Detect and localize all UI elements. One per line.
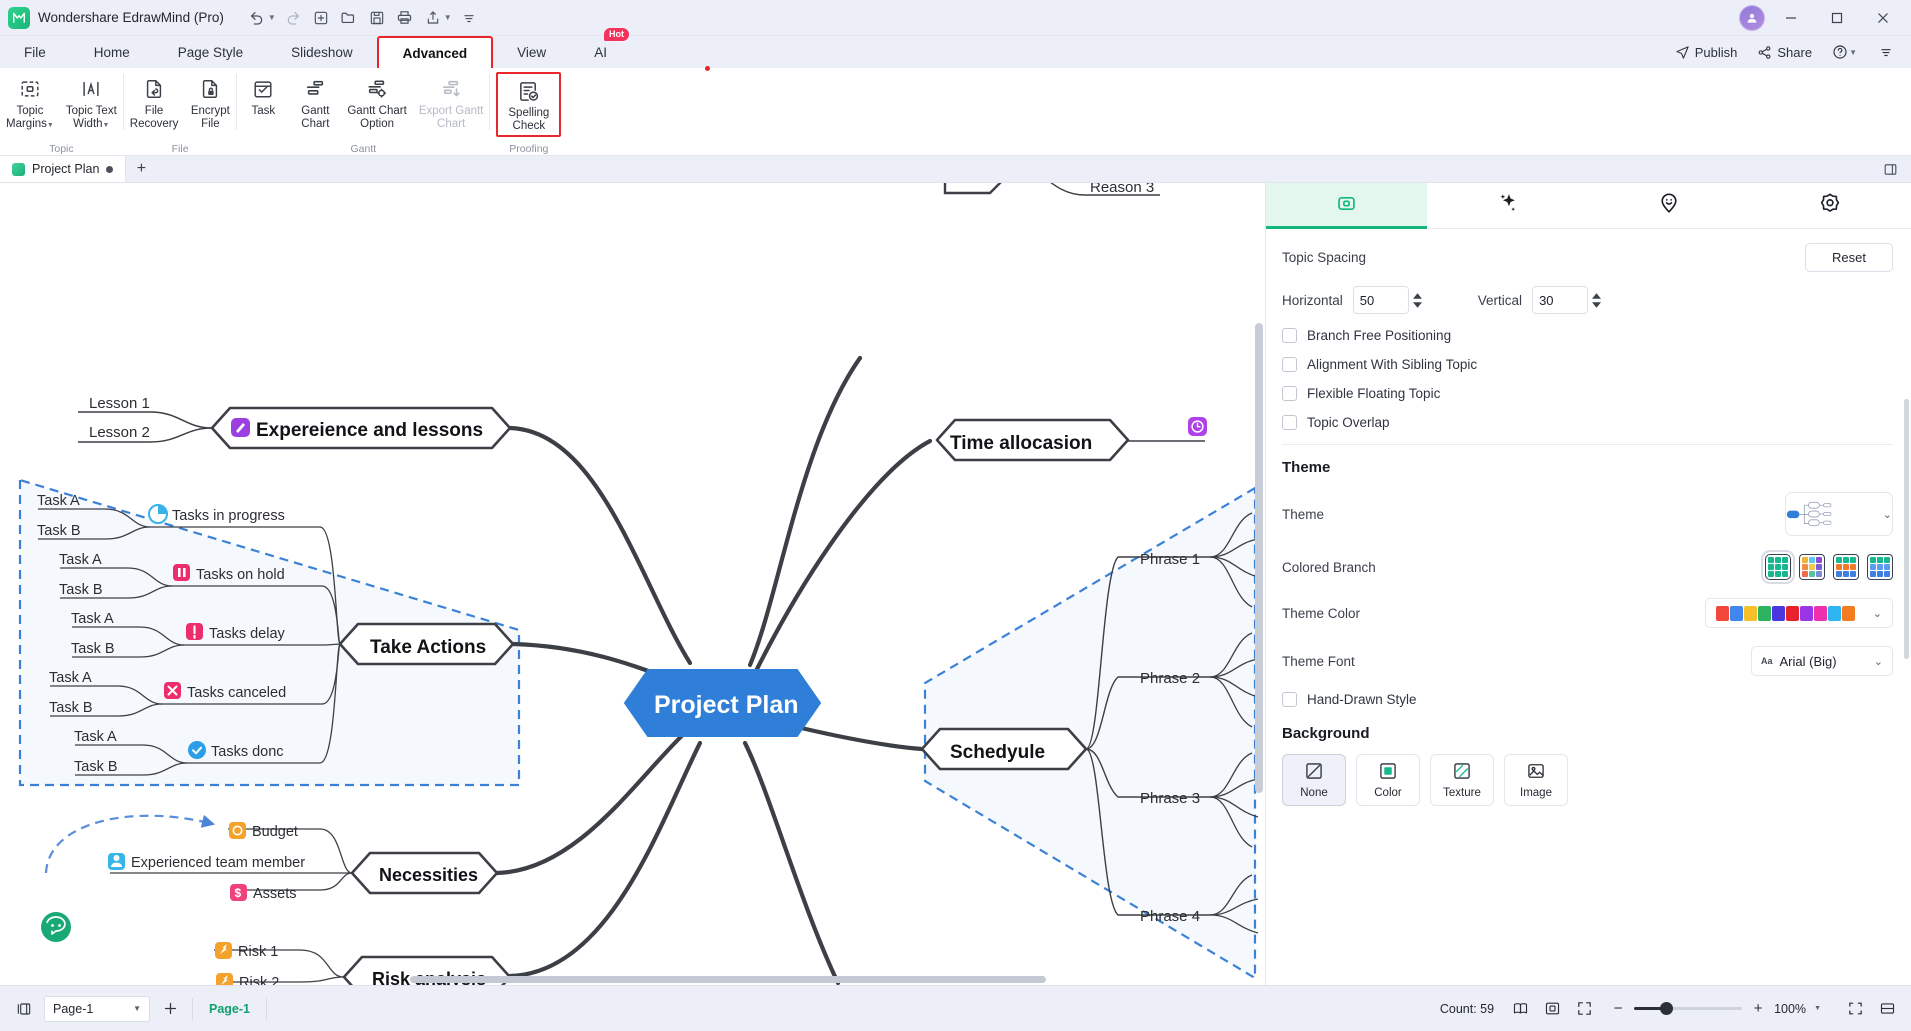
ribbon-group-proofing: Spelling Check Proofing (496, 68, 561, 156)
fit-page-icon[interactable] (1538, 996, 1566, 1022)
checkbox-icon[interactable] (1282, 386, 1297, 401)
topic-margins-icon (19, 76, 41, 102)
menu-bar-right: Publish Share ▼ (1667, 36, 1911, 68)
ribbon-group-label-proofing: Proofing (496, 142, 561, 156)
export-gantt-chart-label: Export Gantt Chart (419, 105, 484, 131)
add-page-button[interactable] (156, 996, 184, 1022)
label-line-2: Check (513, 120, 546, 132)
tab-bar-right (1877, 156, 1911, 182)
background-option-image[interactable]: Image (1504, 754, 1568, 806)
horizontal-spin-arrows[interactable] (1413, 293, 1422, 308)
scrollbar-thumb[interactable] (1255, 323, 1263, 793)
menu-item-ai[interactable]: AI Hot (570, 36, 631, 68)
label-line-2: File (201, 118, 220, 130)
horizontal-label: Horizontal (1282, 293, 1343, 308)
label-line-2: Margins (6, 118, 47, 130)
checkbox-hand-drawn-style[interactable]: Hand-Drawn Style (1282, 692, 1893, 707)
menu-item-advanced[interactable]: Advanced (377, 36, 494, 68)
label-line-2: Chart (437, 118, 465, 130)
modified-dot-icon (106, 166, 113, 173)
gear-tab[interactable] (1750, 183, 1911, 228)
page-select-value: Page-1 (53, 1002, 93, 1016)
checkbox-icon[interactable] (1282, 415, 1297, 430)
label-line-1: Topic (16, 105, 43, 117)
status-separator (192, 998, 193, 1020)
color-icon (1378, 761, 1398, 781)
image-icon (1526, 761, 1546, 781)
svg-text:Phrase 1: Phrase 1 (1140, 551, 1200, 568)
current-page-chip[interactable]: Page-1 (201, 1002, 258, 1016)
add-tab-button[interactable]: + (126, 156, 156, 182)
theme-color-row: Theme Color ⌄ (1282, 598, 1893, 628)
gantt-chart-option-label: Gantt Chart Option (347, 105, 406, 131)
ribbon-group-label-topic: Topic (0, 142, 123, 156)
title-bar: Wondershare EdrawMind (Pro) ▼ ▼ (0, 0, 1911, 36)
theme-font-label: Theme Font (1282, 654, 1355, 669)
theme-font-value: Arial (Big) (1780, 654, 1837, 669)
ribbon-red-dot (705, 66, 710, 71)
ribbon-separator (489, 74, 490, 130)
menu-item-view[interactable]: View (493, 36, 570, 68)
ribbon: Topic Margins▼ Topic Text Width▼ Topic (0, 68, 1911, 156)
more-options-icon[interactable] (456, 5, 482, 31)
chevron-down-icon (1592, 302, 1601, 308)
mindmap-svg: Lesson 1 Lesson 2 Expereience and lesson… (0, 183, 1265, 985)
background-section-title: Background (1282, 725, 1893, 742)
topic-text-width-button[interactable]: Topic Text Width▼ (60, 72, 123, 132)
colored-branch-option-4[interactable] (1867, 554, 1893, 580)
svg-text:Lesson 2: Lesson 2 (89, 424, 150, 441)
canvas-vertical-scrollbar[interactable] (1255, 323, 1263, 793)
presentation-mode-icon[interactable] (1841, 996, 1869, 1022)
export-caret-icon[interactable]: ▼ (444, 13, 452, 22)
help-button[interactable]: ▼ (1824, 40, 1867, 64)
section-divider (1282, 444, 1893, 445)
open-icon[interactable] (336, 5, 362, 31)
checkbox-icon[interactable] (1282, 692, 1297, 707)
label-line-1: Export Gantt (419, 105, 484, 117)
svg-text:Lesson 1: Lesson 1 (89, 395, 150, 412)
none-icon (1304, 761, 1324, 781)
theme-preview-icon (1786, 499, 1836, 529)
theme-label: Theme (1282, 507, 1324, 522)
publish-label: Publish (1695, 45, 1738, 60)
spelling-check-button[interactable]: Spelling Check (496, 72, 561, 137)
svg-text:Tasks in progress: Tasks in progress (172, 508, 285, 524)
save-icon[interactable] (364, 5, 390, 31)
topic-spacing-label: Topic Spacing (1282, 250, 1366, 265)
background-option-label: Image (1520, 787, 1552, 799)
colored-branch-label: Colored Branch (1282, 560, 1376, 575)
canvas-horizontal-scrollbar[interactable] (0, 973, 1265, 985)
theme-color-swatches (1716, 606, 1855, 621)
ribbon-group-label-gantt: Gantt (237, 142, 489, 156)
print-icon[interactable] (392, 5, 418, 31)
spelling-check-label: Spelling Check (508, 107, 549, 133)
background-option-color[interactable]: Color (1356, 754, 1420, 806)
svg-text:Project Plan: Project Plan (654, 691, 799, 719)
task-button[interactable]: Task (237, 72, 289, 118)
topic-margins-button[interactable]: Topic Margins▼ (0, 72, 60, 132)
quick-access-toolbar: ▼ ▼ (244, 5, 482, 31)
svg-text:Task B: Task B (59, 582, 103, 598)
checkbox-branch-free-positioning[interactable]: Branch Free Positioning (1282, 328, 1893, 343)
svg-text:Time allocasion: Time allocasion (950, 433, 1092, 454)
colored-branch-option-2[interactable] (1799, 554, 1825, 580)
chevron-down-icon[interactable]: ⌄ (1873, 607, 1882, 620)
sparkle-icon (1497, 192, 1519, 219)
svg-text:Reason 3: Reason 3 (1090, 183, 1154, 196)
reset-button[interactable]: Reset (1805, 243, 1893, 272)
svg-text:Phrase 4: Phrase 4 (1140, 908, 1200, 925)
ribbon-group-topic: Topic Margins▼ Topic Text Width▼ Topic (0, 68, 123, 156)
menu-more-icon[interactable] (1871, 41, 1901, 63)
redo-icon[interactable] (280, 5, 306, 31)
svg-text:Schedyule: Schedyule (950, 742, 1045, 763)
mindmap-canvas[interactable]: Lesson 1 Lesson 2 Expereience and lesson… (0, 183, 1265, 985)
svg-text:Tasks donc: Tasks donc (211, 744, 284, 760)
document-tab-label: Project Plan (32, 162, 99, 176)
svg-text:Task A: Task A (74, 729, 117, 745)
texture-icon (1452, 761, 1472, 781)
ai-tab[interactable] (1427, 183, 1588, 228)
split-view-icon[interactable] (1873, 996, 1901, 1022)
background-option-texture[interactable]: Texture (1430, 754, 1494, 806)
background-option-none[interactable]: None (1282, 754, 1346, 806)
menu-item-home[interactable]: Home (70, 36, 154, 68)
menu-item-file[interactable]: File (0, 36, 70, 68)
publish-button[interactable]: Publish (1667, 41, 1746, 64)
status-separator (266, 998, 267, 1020)
help-caret-icon[interactable]: ▼ (1849, 48, 1857, 57)
menu-label: Advanced (403, 46, 468, 61)
menu-label: View (517, 45, 546, 60)
right-panel-scrollbar[interactable] (1904, 399, 1909, 659)
theme-color-label: Theme Color (1282, 606, 1360, 621)
chevron-up-icon (1413, 293, 1422, 299)
theme-row: Theme ⌄ (1282, 492, 1893, 536)
layout-tab[interactable] (1266, 183, 1427, 228)
ribbon-group-label-file: File (124, 142, 237, 156)
encrypt-file-label: Encrypt File (191, 105, 230, 131)
main-area: Lesson 1 Lesson 2 Expereience and lesson… (0, 183, 1911, 985)
menu-label: Slideshow (291, 45, 353, 60)
close-button[interactable] (1863, 1, 1903, 35)
checkbox-alignment-with-sibling-topic[interactable]: Alignment With Sibling Topic (1282, 357, 1893, 372)
menu-item-page-style[interactable]: Page Style (154, 36, 267, 68)
right-panel: Topic Spacing Reset Horizontal Vertical (1265, 183, 1911, 985)
export-gantt-chart-button: Export Gantt Chart (413, 72, 490, 131)
undo-caret-icon[interactable]: ▼ (268, 13, 276, 22)
svg-text:Phrase 2: Phrase 2 (1140, 670, 1200, 687)
zoom-knob[interactable] (1660, 1002, 1673, 1015)
menu-label: AI (594, 45, 607, 60)
label-line-2: Recovery (130, 118, 179, 130)
emoji-tab[interactable] (1589, 183, 1750, 228)
encrypt-file-icon (199, 76, 221, 102)
zoom-slider[interactable] (1634, 1002, 1742, 1016)
svg-text:Tasks delay: Tasks delay (209, 626, 286, 642)
gantt-chart-icon (304, 76, 326, 102)
layout-icon (1336, 193, 1357, 219)
svg-text:Necessities: Necessities (379, 865, 478, 885)
chevron-down-icon[interactable]: ▼ (1814, 1005, 1821, 1012)
ribbon-group-gantt: Task Gantt Chart Gantt Chart Option (237, 68, 489, 156)
maximize-button[interactable] (1817, 1, 1857, 35)
zoom-control: − + 100% ▼ (1610, 1000, 1821, 1017)
vertical-spin-arrows[interactable] (1592, 293, 1601, 308)
scrollbar-thumb[interactable] (410, 976, 1046, 983)
topic-margins-label: Topic Margins▼ (6, 105, 54, 132)
chevron-down-icon[interactable]: ⌄ (1883, 508, 1892, 521)
document-tab-bar: Project Plan + (0, 156, 1911, 183)
svg-text:Task B: Task B (74, 759, 118, 775)
minimize-button[interactable] (1771, 1, 1811, 35)
svg-text:Task A: Task A (37, 493, 80, 509)
checkbox-icon[interactable] (1282, 328, 1297, 343)
status-bar-right: Count: 59 − + 100% ▼ (1440, 996, 1901, 1022)
checkbox-topic-overlap[interactable]: Topic Overlap (1282, 415, 1893, 430)
horizontal-input[interactable] (1353, 286, 1409, 314)
topic-text-width-label: Topic Text Width▼ (66, 105, 117, 132)
colored-branch-option-3[interactable] (1833, 554, 1859, 580)
label-line-1: File (145, 105, 164, 117)
colored-branch-row: Colored Branch (1282, 554, 1893, 580)
outline-view-icon[interactable] (1506, 996, 1534, 1022)
app-title: Wondershare EdrawMind (Pro) (38, 10, 224, 25)
menu-label: File (24, 45, 46, 60)
new-icon[interactable] (308, 5, 334, 31)
spacing-inputs-row: Horizontal Vertical (1282, 286, 1893, 314)
gantt-chart-label: Gantt Chart (301, 105, 329, 131)
topic-text-width-icon (80, 76, 102, 102)
task-label: Task (252, 105, 276, 118)
label-line-1: Task (252, 105, 276, 117)
export-gantt-chart-icon (440, 76, 462, 102)
share-button[interactable]: Share (1749, 41, 1820, 64)
checkbox-label: Flexible Floating Topic (1307, 386, 1440, 401)
gantt-chart-button[interactable]: Gantt Chart (289, 72, 341, 131)
task-icon (252, 76, 274, 102)
svg-text:Task B: Task B (37, 523, 81, 539)
avatar[interactable] (1739, 5, 1765, 31)
svg-text:Task B: Task B (49, 700, 93, 716)
export-share-icon[interactable] (420, 5, 446, 31)
chevron-down-icon[interactable]: ⌄ (1874, 655, 1883, 668)
label-line-1: Topic Text (66, 105, 117, 117)
right-panel-tabs (1266, 183, 1911, 229)
menu-label: Home (94, 45, 130, 60)
page-select[interactable]: Page-1 ▼ (44, 996, 150, 1022)
gear-icon (1819, 192, 1841, 219)
checkbox-icon[interactable] (1282, 357, 1297, 372)
zoom-in-button[interactable]: + (1750, 1000, 1766, 1017)
menu-item-slideshow[interactable]: Slideshow (267, 36, 377, 68)
edrawmind-logo-icon (8, 7, 30, 29)
hot-badge: Hot (604, 28, 629, 41)
label-line-2: Option (360, 118, 394, 130)
svg-text:Task B: Task B (71, 641, 115, 657)
document-icon (12, 163, 25, 176)
svg-text:Tasks canceled: Tasks canceled (187, 685, 286, 701)
gantt-chart-option-button[interactable]: Gantt Chart Option (341, 72, 412, 131)
undo-icon[interactable] (244, 5, 270, 31)
svg-text:Take Actions: Take Actions (370, 637, 486, 658)
zoom-label[interactable]: 100% (1774, 1002, 1806, 1016)
svg-text:$: $ (235, 886, 242, 900)
label-line-1: Spelling (508, 107, 549, 119)
count-label: Count: 59 (1440, 1002, 1494, 1016)
encrypt-file-button[interactable]: Encrypt File (184, 72, 236, 131)
svg-text:Task A: Task A (59, 552, 102, 568)
status-bar: Page-1 ▼ Page-1 Count: 59 − + 100% ▼ (0, 985, 1911, 1031)
chevron-down-icon[interactable]: ▼ (47, 122, 54, 129)
theme-section-title: Theme (1282, 459, 1893, 476)
topic-spacing-row: Topic Spacing Reset (1282, 243, 1893, 272)
svg-text:Assets: Assets (253, 886, 297, 902)
theme-font-select[interactable]: Aa Arial (Big) ⌄ (1751, 646, 1893, 676)
zoom-out-button[interactable]: − (1610, 1000, 1626, 1017)
file-recovery-button[interactable]: File Recovery (124, 72, 185, 131)
background-option-label: Color (1374, 787, 1401, 799)
vertical-label: Vertical (1478, 293, 1522, 308)
checkbox-label: Topic Overlap (1307, 415, 1390, 430)
svg-text:Risk 1: Risk 1 (238, 944, 278, 960)
checkbox-label: Hand-Drawn Style (1307, 692, 1417, 707)
page-view-icon[interactable] (10, 996, 38, 1022)
file-recovery-icon (143, 76, 165, 102)
vertical-stepper[interactable] (1532, 286, 1601, 314)
svg-text:Task A: Task A (71, 611, 114, 627)
file-recovery-label: File Recovery (130, 105, 179, 131)
menu-label: Page Style (178, 45, 243, 60)
label-line-1: Gantt Chart (347, 105, 406, 117)
label-line-1: Gantt (301, 105, 329, 117)
share-label: Share (1777, 45, 1812, 60)
panel-toggle-icon[interactable] (1877, 158, 1903, 180)
theme-picker[interactable]: ⌄ (1785, 492, 1893, 536)
theme-font-row: Theme Font Aa Arial (Big) ⌄ (1282, 646, 1893, 676)
document-tab-project-plan[interactable]: Project Plan (0, 156, 126, 182)
vertical-input[interactable] (1532, 286, 1588, 314)
background-option-label: None (1300, 787, 1328, 799)
spelling-check-icon (517, 78, 540, 104)
svg-text:Experienced team member: Experienced team member (131, 855, 305, 871)
checkbox-flexible-floating-topic[interactable]: Flexible Floating Topic (1282, 386, 1893, 401)
background-options: None Color Texture Image (1282, 754, 1893, 806)
chevron-up-icon (1592, 293, 1601, 299)
smiley-pin-icon (1658, 192, 1680, 219)
label-line-1: Encrypt (191, 105, 230, 117)
colored-branch-option-1[interactable] (1765, 554, 1791, 580)
horizontal-stepper[interactable] (1353, 286, 1422, 314)
background-option-label: Texture (1443, 787, 1481, 799)
right-panel-body: Topic Spacing Reset Horizontal Vertical (1266, 229, 1911, 985)
menu-bar: File Home Page Style Slideshow Advanced … (0, 36, 1911, 68)
title-bar-right (1739, 1, 1903, 35)
gantt-chart-option-icon (366, 76, 388, 102)
svg-text:Tasks on hold: Tasks on hold (196, 567, 285, 583)
font-aa-icon: Aa (1761, 656, 1773, 666)
svg-text:Expereience and lessons: Expereience and lessons (256, 420, 483, 441)
checkbox-label: Branch Free Positioning (1307, 328, 1451, 343)
chevron-down-icon[interactable]: ▼ (133, 1004, 141, 1013)
svg-text:Budget: Budget (252, 824, 298, 840)
checkbox-label: Alignment With Sibling Topic (1307, 357, 1477, 372)
svg-text:Phrase 3: Phrase 3 (1140, 790, 1200, 807)
chevron-down-icon[interactable]: ▼ (103, 122, 110, 129)
svg-text:Task A: Task A (49, 670, 92, 686)
label-line-2: Width (73, 118, 102, 130)
colored-branch-options (1765, 554, 1893, 580)
chevron-down-icon (1413, 302, 1422, 308)
ribbon-group-file: File Recovery Encrypt File File (124, 68, 237, 156)
label-line-2: Chart (301, 118, 329, 130)
theme-color-picker[interactable]: ⌄ (1705, 598, 1893, 628)
full-canvas-icon[interactable] (1570, 996, 1598, 1022)
